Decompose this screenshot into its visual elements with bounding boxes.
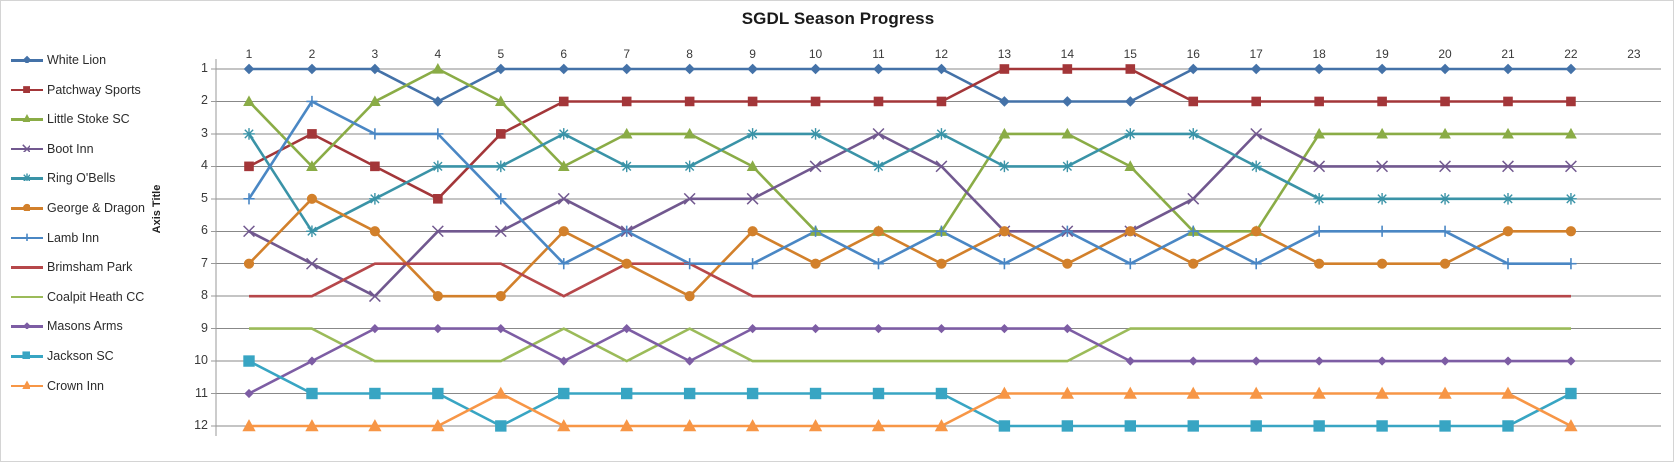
y-axis-tick-labels: 123456789101112 <box>166 1 208 463</box>
data-point-square-marker <box>811 97 820 106</box>
y-tick-label: 4 <box>168 158 208 172</box>
x-tick-label: 6 <box>544 47 584 61</box>
data-point-circle-marker <box>370 227 379 236</box>
data-point-diamond-marker <box>1063 97 1072 106</box>
data-point-plus-marker <box>1125 258 1136 269</box>
x-tick-label: 17 <box>1236 47 1276 61</box>
legend-item-lamb-inn[interactable]: Lamb Inn <box>11 229 99 247</box>
data-point-diamond-marker <box>811 64 820 73</box>
data-point-square-marker <box>622 97 631 106</box>
legend-item-label: Crown Inn <box>47 379 104 393</box>
legend-item-label: Boot Inn <box>47 142 94 156</box>
legend-item-label: Lamb Inn <box>47 231 99 245</box>
data-point-bigsquare-marker <box>1440 421 1450 431</box>
legend-marker-square-icon <box>11 82 43 98</box>
series-line-ring-o-bells <box>249 134 1571 231</box>
legend-marker-diamond-icon <box>11 52 43 68</box>
legend-item-label: George & Dragon <box>47 201 145 215</box>
data-point-smalldiamond-marker <box>812 325 820 333</box>
data-point-bigsquare-marker <box>1062 421 1072 431</box>
data-point-diamond-marker <box>433 97 442 106</box>
data-point-smalldiamond-marker <box>1252 357 1260 365</box>
x-tick-label: 2 <box>292 47 332 61</box>
data-point-bigsquare-marker <box>747 388 757 398</box>
data-point-circle-marker <box>937 259 946 268</box>
legend-marker-none-icon <box>11 289 43 305</box>
x-tick-label: 13 <box>984 47 1024 61</box>
y-tick-label: 6 <box>168 223 208 237</box>
legend-item-white-lion[interactable]: White Lion <box>11 51 106 69</box>
plot-area <box>1 1 1674 463</box>
x-tick-label: 11 <box>859 47 899 61</box>
data-point-circle-marker <box>685 292 694 301</box>
data-point-smalldiamond-marker <box>1567 357 1575 365</box>
data-point-circle-marker <box>1252 227 1261 236</box>
legend-item-label: Coalpit Heath CC <box>47 290 144 304</box>
data-point-circle-marker <box>1440 259 1449 268</box>
series-lines <box>249 69 1571 426</box>
legend-item-boot-inn[interactable]: Boot Inn <box>11 140 94 158</box>
legend-item-label: Little Stoke SC <box>47 112 130 126</box>
data-point-plus-marker <box>1314 226 1325 237</box>
data-point-smalldiamond-marker <box>1189 357 1197 365</box>
y-tick-label: 2 <box>168 93 208 107</box>
data-point-square-marker <box>245 162 254 171</box>
data-point-bigsquare-marker <box>496 421 506 431</box>
data-point-circle-marker <box>811 259 820 268</box>
data-point-bigsquare-marker <box>370 388 380 398</box>
data-point-circle-marker <box>244 259 253 268</box>
legend-item-label: Brimsham Park <box>47 260 132 274</box>
legend-marker-smalldiamond-icon <box>11 318 43 334</box>
data-point-diamond-marker <box>559 64 568 73</box>
x-tick-label: 8 <box>670 47 710 61</box>
data-point-circle-marker <box>748 227 757 236</box>
data-point-plus-marker <box>684 258 695 269</box>
data-point-plus-marker <box>999 258 1010 269</box>
axes <box>211 59 216 436</box>
x-tick-label: 9 <box>733 47 773 61</box>
x-tick-label: 18 <box>1299 47 1339 61</box>
x-tick-label: 12 <box>921 47 961 61</box>
y-tick-label: 12 <box>168 418 208 432</box>
data-point-square-marker <box>1378 97 1387 106</box>
data-point-asterisk-marker <box>1125 128 1137 140</box>
y-tick-label: 3 <box>168 126 208 140</box>
gridlines <box>216 69 1661 426</box>
data-point-plus-marker <box>747 258 758 269</box>
data-point-diamond-marker <box>1315 64 1324 73</box>
data-point-circle-marker <box>1566 227 1575 236</box>
data-point-circle-marker <box>1126 227 1135 236</box>
data-point-smalldiamond-marker <box>1001 325 1009 333</box>
data-point-square-marker <box>1567 97 1576 106</box>
data-point-bigsquare-marker <box>433 388 443 398</box>
data-point-diamond-marker <box>1440 64 1449 73</box>
data-point-asterisk-marker <box>558 128 570 140</box>
data-point-asterisk-marker <box>999 161 1011 173</box>
data-point-bigsquare-marker <box>307 388 317 398</box>
data-point-asterisk-marker <box>936 128 948 140</box>
legend-marker-bigtriangle-icon <box>11 378 43 394</box>
data-point-circle-marker <box>1000 227 1009 236</box>
x-tick-label: 22 <box>1551 47 1591 61</box>
data-point-asterisk-marker <box>243 128 255 140</box>
data-point-plus-marker <box>1377 226 1388 237</box>
legend-item-masons-arms[interactable]: Masons Arms <box>11 317 123 335</box>
data-point-square-marker <box>1189 97 1198 106</box>
legend-item-coalpit-heath-cc[interactable]: Coalpit Heath CC <box>11 288 144 306</box>
data-point-square-marker <box>497 130 506 139</box>
data-point-plus-marker <box>1251 258 1262 269</box>
data-point-square-marker <box>1315 97 1324 106</box>
data-point-asterisk-marker <box>1565 193 1577 205</box>
data-point-bigsquare-marker <box>1251 421 1261 431</box>
data-point-smalldiamond-marker <box>1315 357 1323 365</box>
data-point-diamond-marker <box>1566 64 1575 73</box>
data-point-square-marker <box>1000 65 1009 74</box>
legend-item-label: Jackson SC <box>47 349 114 363</box>
data-point-asterisk-marker <box>1187 128 1199 140</box>
y-tick-label: 11 <box>168 386 208 400</box>
data-point-diamond-marker <box>622 64 631 73</box>
y-tick-label: 1 <box>168 61 208 75</box>
data-point-diamond-marker <box>1189 64 1198 73</box>
data-point-diamond-marker <box>748 64 757 73</box>
data-point-plus-marker <box>1502 258 1513 269</box>
data-point-asterisk-marker <box>621 161 633 173</box>
x-tick-label: 3 <box>355 47 395 61</box>
legend-item-jackson-sc[interactable]: Jackson SC <box>11 347 114 365</box>
data-point-square-marker <box>371 162 380 171</box>
data-point-circle-marker <box>496 292 505 301</box>
data-point-circle-marker <box>559 227 568 236</box>
data-point-square-marker <box>1441 97 1450 106</box>
data-point-asterisk-marker <box>747 128 759 140</box>
y-tick-label: 9 <box>168 321 208 335</box>
data-point-diamond-marker <box>1000 97 1009 106</box>
series-line-lamb-inn <box>249 102 1571 264</box>
legend-item-crown-inn[interactable]: Crown Inn <box>11 377 104 395</box>
legend-item-patchway-sports[interactable]: Patchway Sports <box>11 81 141 99</box>
legend-marker-plus-icon <box>11 230 43 246</box>
data-point-bigsquare-marker <box>999 421 1009 431</box>
data-point-asterisk-marker <box>1250 161 1262 173</box>
x-tick-label: 23 <box>1614 47 1654 61</box>
x-tick-label: 4 <box>418 47 458 61</box>
series-line-coalpit-heath-cc <box>249 329 1571 362</box>
y-tick-label: 7 <box>168 256 208 270</box>
data-point-smalldiamond-marker <box>1504 357 1512 365</box>
data-point-bigsquare-marker <box>1125 421 1135 431</box>
series-line-brimsham-park <box>249 264 1571 297</box>
legend-item-ring-o-bells[interactable]: Ring O'Bells <box>11 169 115 187</box>
legend-marker-none-icon <box>11 259 43 275</box>
y-tick-label: 8 <box>168 288 208 302</box>
data-point-diamond-marker <box>496 64 505 73</box>
chart-frame: SGDL Season Progress White LionPatchway … <box>0 0 1674 462</box>
data-point-circle-marker <box>1063 259 1072 268</box>
data-point-circle-marker <box>1315 259 1324 268</box>
data-point-asterisk-marker <box>1313 193 1325 205</box>
data-point-asterisk-marker <box>873 161 885 173</box>
data-point-asterisk-marker <box>1376 193 1388 205</box>
legend-item-brimsham-park[interactable]: Brimsham Park <box>11 258 132 276</box>
data-point-plus-marker <box>873 258 884 269</box>
data-point-smalldiamond-marker <box>938 325 946 333</box>
data-point-diamond-marker <box>1252 64 1261 73</box>
data-point-asterisk-marker <box>810 128 822 140</box>
x-tick-label: 16 <box>1173 47 1213 61</box>
data-point-diamond-marker <box>937 64 946 73</box>
legend-marker-circle-icon <box>11 200 43 216</box>
y-axis-title: Axis Title <box>151 164 167 254</box>
data-point-circle-marker <box>433 292 442 301</box>
data-point-bigsquare-marker <box>622 388 632 398</box>
data-point-bigsquare-marker <box>1377 421 1387 431</box>
data-point-smalldiamond-marker <box>434 325 442 333</box>
data-point-diamond-marker <box>307 64 316 73</box>
data-point-diamond-marker <box>244 64 253 73</box>
data-point-plus-marker <box>1439 226 1450 237</box>
data-point-square-marker <box>559 97 568 106</box>
legend-item-label: Ring O'Bells <box>47 171 115 185</box>
data-point-circle-marker <box>1378 259 1387 268</box>
x-tick-label: 10 <box>796 47 836 61</box>
data-point-asterisk-marker <box>495 161 507 173</box>
x-tick-label: 14 <box>1047 47 1087 61</box>
data-point-bigsquare-marker <box>559 388 569 398</box>
data-point-bigsquare-marker <box>1188 421 1198 431</box>
data-point-asterisk-marker <box>306 225 318 237</box>
data-point-asterisk-marker <box>684 161 696 173</box>
data-point-bigsquare-marker <box>684 388 694 398</box>
data-point-circle-marker <box>1189 259 1198 268</box>
data-point-diamond-marker <box>1126 97 1135 106</box>
data-point-asterisk-marker <box>1502 193 1514 205</box>
data-point-square-marker <box>1126 65 1135 74</box>
data-point-diamond-marker <box>874 64 883 73</box>
legend-marker-x-icon <box>11 141 43 157</box>
data-point-diamond-marker <box>1503 64 1512 73</box>
data-point-square-marker <box>874 97 883 106</box>
data-point-square-marker <box>308 130 317 139</box>
y-tick-label: 5 <box>168 191 208 205</box>
y-tick-label: 10 <box>168 353 208 367</box>
data-point-bigsquare-marker <box>873 388 883 398</box>
data-point-bigtriangle-marker <box>1565 420 1577 431</box>
data-point-asterisk-marker <box>1439 193 1451 205</box>
data-point-circle-marker <box>1503 227 1512 236</box>
data-point-square-marker <box>1252 97 1261 106</box>
data-point-bigsquare-marker <box>1566 388 1576 398</box>
legend-item-label: White Lion <box>47 53 106 67</box>
data-point-square-marker <box>434 195 443 204</box>
x-tick-label: 15 <box>1110 47 1150 61</box>
data-point-smalldiamond-marker <box>875 325 883 333</box>
legend-marker-asterisk-icon <box>11 170 43 186</box>
data-point-bigsquare-marker <box>1503 421 1513 431</box>
data-point-diamond-marker <box>685 64 694 73</box>
data-point-smalldiamond-marker <box>1441 357 1449 365</box>
legend-marker-bigsquare-icon <box>11 348 43 364</box>
data-point-asterisk-marker <box>369 193 381 205</box>
x-tick-label: 21 <box>1488 47 1528 61</box>
data-point-bigsquare-marker <box>936 388 946 398</box>
data-point-smalldiamond-marker <box>1378 357 1386 365</box>
data-point-square-marker <box>685 97 694 106</box>
series-line-boot-inn <box>249 134 1571 296</box>
x-tick-label: 19 <box>1362 47 1402 61</box>
legend-item-label: Patchway Sports <box>47 83 141 97</box>
data-point-diamond-marker <box>1378 64 1387 73</box>
legend-item-little-stoke-sc[interactable]: Little Stoke SC <box>11 110 130 128</box>
data-point-bigsquare-marker <box>244 356 254 366</box>
data-point-plus-marker <box>369 128 380 139</box>
data-point-asterisk-marker <box>432 161 444 173</box>
data-point-bigsquare-marker <box>1314 421 1324 431</box>
data-point-square-marker <box>1063 65 1072 74</box>
x-tick-label: 1 <box>229 47 269 61</box>
data-point-asterisk-marker <box>1062 161 1074 173</box>
legend-item-george-dragon[interactable]: George & Dragon <box>11 199 145 217</box>
data-point-plus-marker <box>1565 258 1576 269</box>
x-tick-label: 7 <box>607 47 647 61</box>
x-tick-label: 5 <box>481 47 521 61</box>
data-point-bigsquare-marker <box>810 388 820 398</box>
x-tick-label: 20 <box>1425 47 1465 61</box>
data-point-circle-marker <box>307 194 316 203</box>
data-point-circle-marker <box>622 259 631 268</box>
data-point-diamond-marker <box>370 64 379 73</box>
data-point-bigtriangle-marker <box>495 388 507 399</box>
legend-marker-triangle-icon <box>11 111 43 127</box>
data-point-circle-marker <box>874 227 883 236</box>
data-point-square-marker <box>1504 97 1513 106</box>
data-point-square-marker <box>748 97 757 106</box>
legend-item-label: Masons Arms <box>47 319 123 333</box>
x-axis-tick-labels: 1234567891011121314151617181920212223 <box>1 1 1674 21</box>
data-point-square-marker <box>937 97 946 106</box>
